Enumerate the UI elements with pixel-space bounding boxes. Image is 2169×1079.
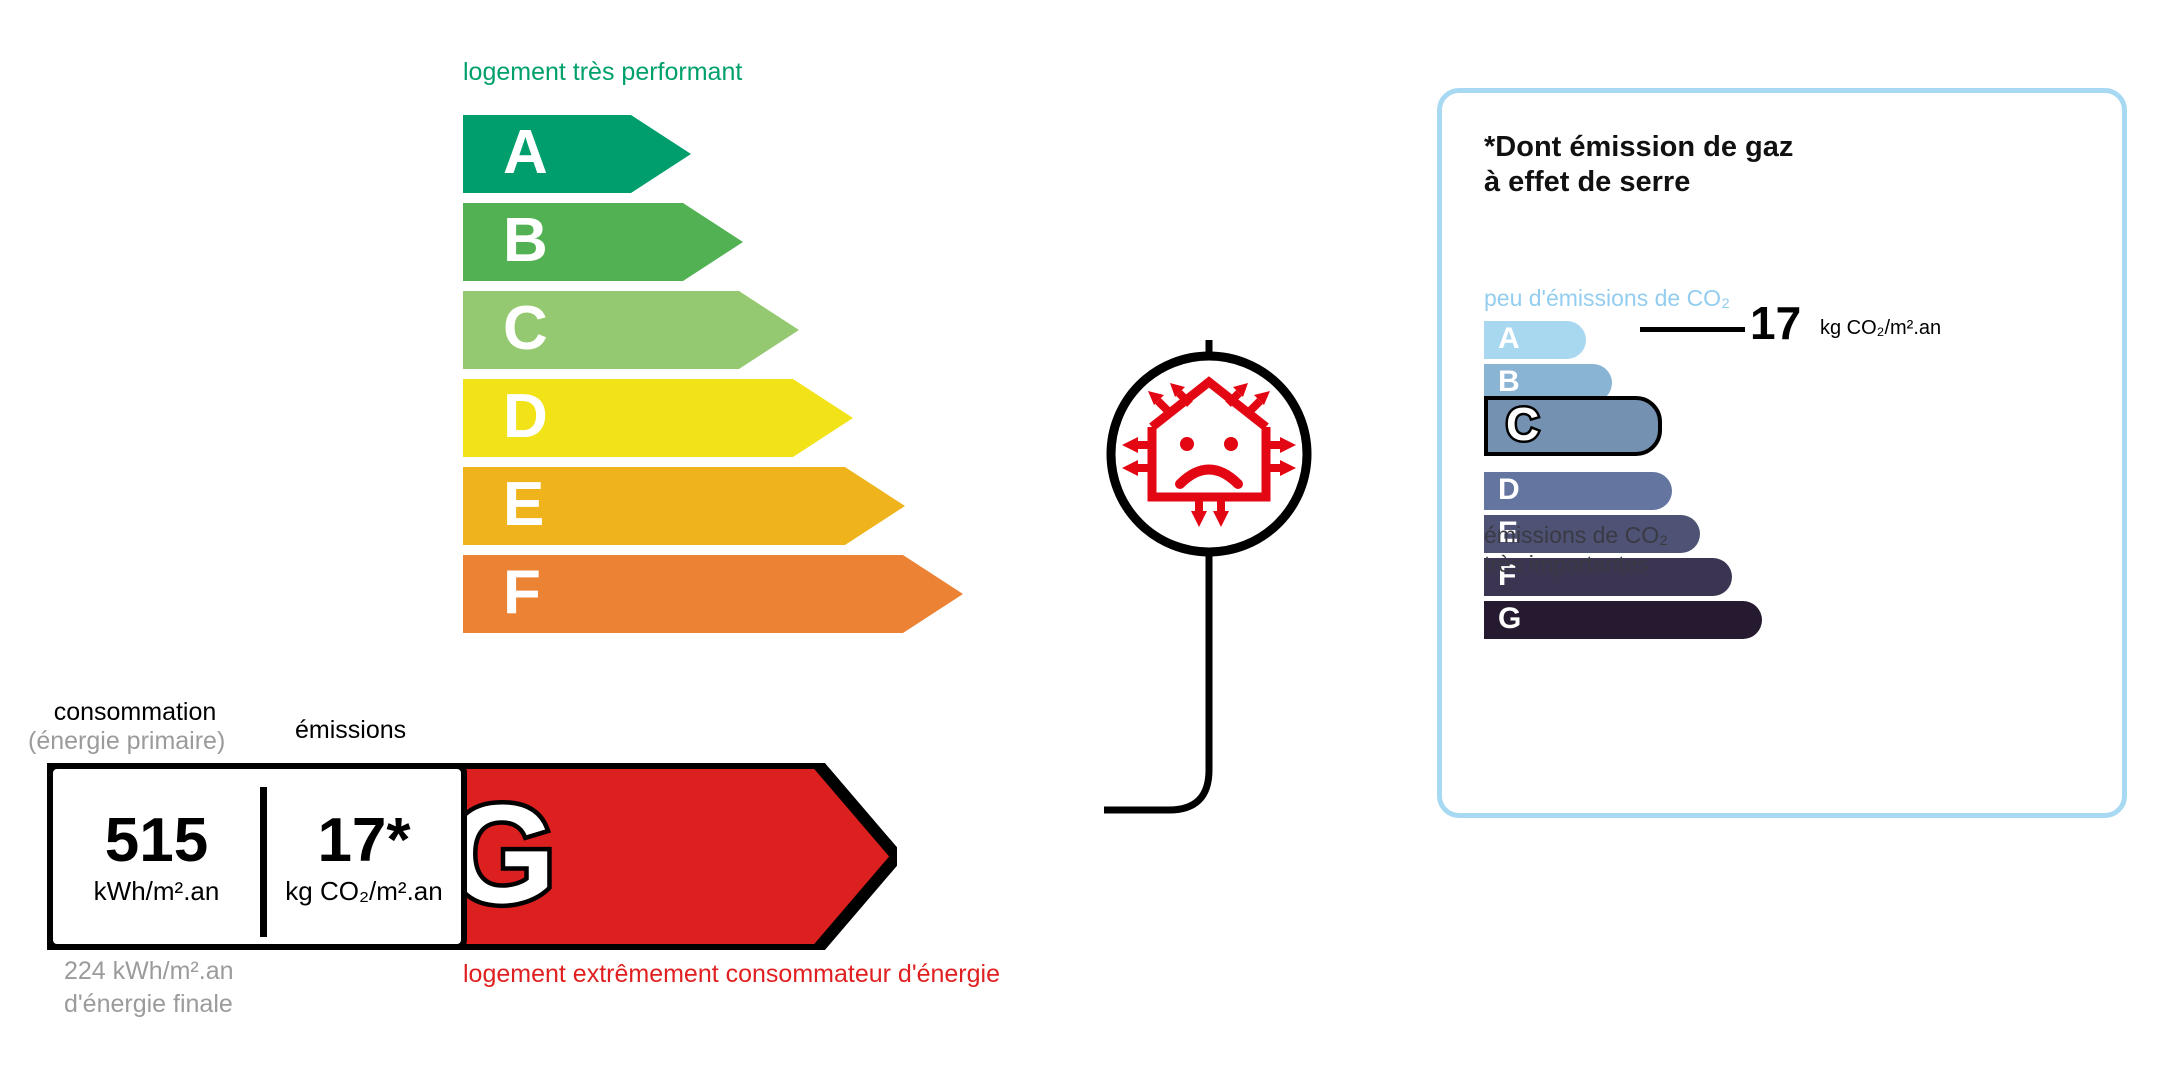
dpe-label: logement très performant A B C D E F G l… (0, 0, 2169, 1079)
emissions-value: 17* (317, 810, 410, 872)
consumption-header-label: consommation (54, 698, 217, 726)
co2-band-letter-c: C (1506, 401, 1539, 447)
consumption-header: consommation (énergie primaire) (50, 698, 220, 756)
co2-band-d[interactable]: D (1484, 472, 1672, 510)
co2-title-line2: à effet de serre (1484, 165, 1793, 200)
co2-value: 17 (1750, 300, 1801, 346)
energy-band-f[interactable]: F (463, 555, 963, 633)
energy-band-letter-b: B (503, 210, 548, 272)
scale-top-caption: logement très performant (463, 58, 742, 87)
co2-title-line1: *Dont émission de gaz (1484, 130, 1793, 165)
emissions-header: émissions (295, 716, 406, 745)
energy-band-letter-a: A (503, 122, 548, 184)
co2-value-leader-line (1640, 327, 1745, 332)
energy-band-letter-d: D (503, 386, 548, 448)
co2-value-unit: kg CO₂/m².an (1820, 318, 1941, 338)
co2-emissions-panel: *Dont émission de gaz à effet de serre p… (1437, 88, 2127, 818)
consumption-value: 515 (105, 810, 208, 872)
energy-band-c[interactable]: C (463, 291, 799, 369)
energy-band-letter-f: F (503, 562, 541, 624)
consumption-unit: kWh/m².an (94, 878, 220, 904)
energy-band-d[interactable]: D (463, 379, 853, 457)
final-energy-label: d'énergie finale (64, 988, 234, 1021)
energy-band-letter-e: E (503, 474, 544, 536)
energy-band-letter-c: C (503, 298, 548, 360)
energy-band-e[interactable]: E (463, 467, 905, 545)
emissions-value-cell: 17* kg CO₂/m².an (267, 769, 461, 944)
co2-band-letter-b: B (1498, 367, 1520, 397)
co2-band-letter-d: D (1498, 475, 1520, 505)
co2-bottom-caption-line1: émissions de CO₂ (1484, 521, 1668, 550)
co2-panel-title: *Dont émission de gaz à effet de serre (1484, 130, 1793, 201)
final-energy-note: 224 kWh/m².an d'énergie finale (64, 955, 234, 1020)
emissions-unit: kg CO₂/m².an (285, 878, 442, 904)
co2-band-letter-a: A (1498, 324, 1520, 354)
value-summary-box: 515 kWh/m².an 17* kg CO₂/m².an (47, 763, 467, 950)
energy-band-b[interactable]: B (463, 203, 743, 281)
co2-band-a[interactable]: A (1484, 321, 1586, 359)
energy-band-a[interactable]: A (463, 115, 691, 193)
value-box-divider (260, 787, 267, 937)
sad-house-marker (1104, 349, 1314, 559)
co2-bottom-caption: émissions de CO₂ très importantes (1484, 521, 1668, 579)
co2-top-caption: peu d'émissions de CO₂ (1484, 285, 1730, 312)
co2-bottom-caption-line2: très importantes (1484, 550, 1668, 579)
co2-band-c[interactable]: C (1484, 396, 1662, 456)
consumption-subheader-label: (énergie primaire) (28, 727, 220, 756)
co2-band-letter-g: G (1498, 604, 1521, 634)
final-energy-value: 224 kWh/m².an (64, 955, 234, 988)
consumption-value-cell: 515 kWh/m².an (53, 769, 260, 944)
co2-band-g[interactable]: G (1484, 601, 1762, 639)
scale-bottom-caption: logement extrêmement consommateur d'éner… (463, 960, 1000, 989)
